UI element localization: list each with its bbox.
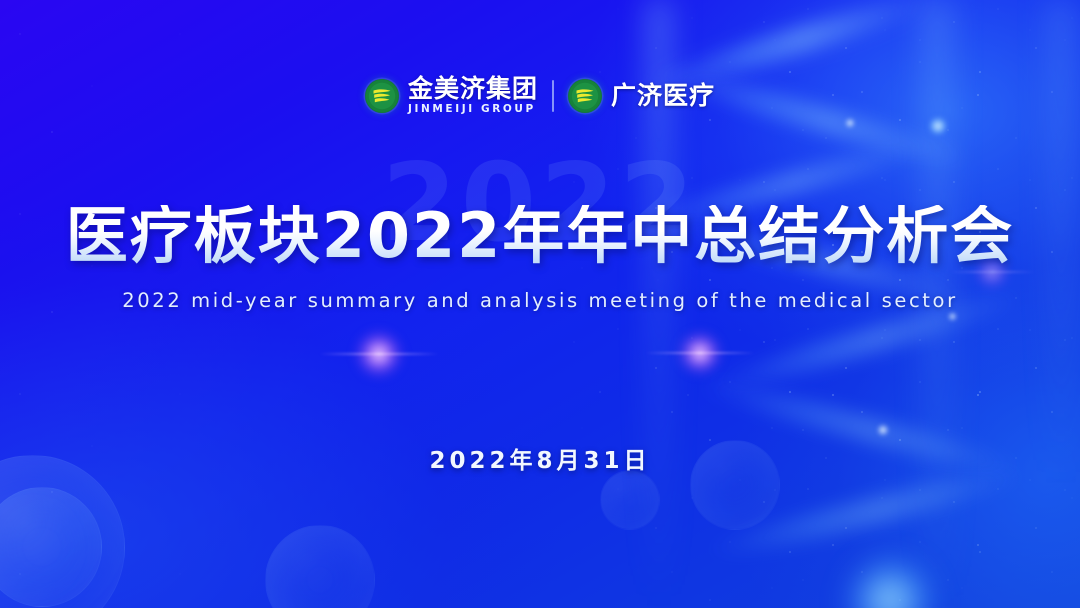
event-date: 2022年8月31日: [0, 441, 1080, 475]
page-title: 医疗板块2022年年中总结分析会: [0, 205, 1080, 267]
brand-primary: 金美济集团 JINMEIJI GROUP: [365, 76, 538, 115]
brand-secondary: 广济医疗: [568, 79, 715, 113]
brand-primary-text: 金美济集团 JINMEIJI GROUP: [408, 76, 538, 115]
brand-lockup: 金美济集团 JINMEIJI GROUP 广济医疗: [0, 76, 1080, 115]
brand-primary-name-en: JINMEIJI GROUP: [408, 103, 538, 115]
guangji-circular-emblem-icon: [568, 79, 602, 113]
brand-primary-name-cn: 金美济集团: [408, 74, 538, 103]
jinmeiji-circular-emblem-icon: [365, 79, 399, 113]
brand-divider: [552, 80, 554, 112]
page-subtitle: 2022 mid-year summary and analysis meeti…: [0, 289, 1080, 312]
brand-secondary-name-cn: 广济医疗: [611, 83, 715, 109]
event-poster: 2022 金美济集团 JINMEIJI GROUP: [0, 0, 1080, 608]
poster-content: 金美济集团 JINMEIJI GROUP 广济医疗 医疗: [0, 0, 1080, 608]
